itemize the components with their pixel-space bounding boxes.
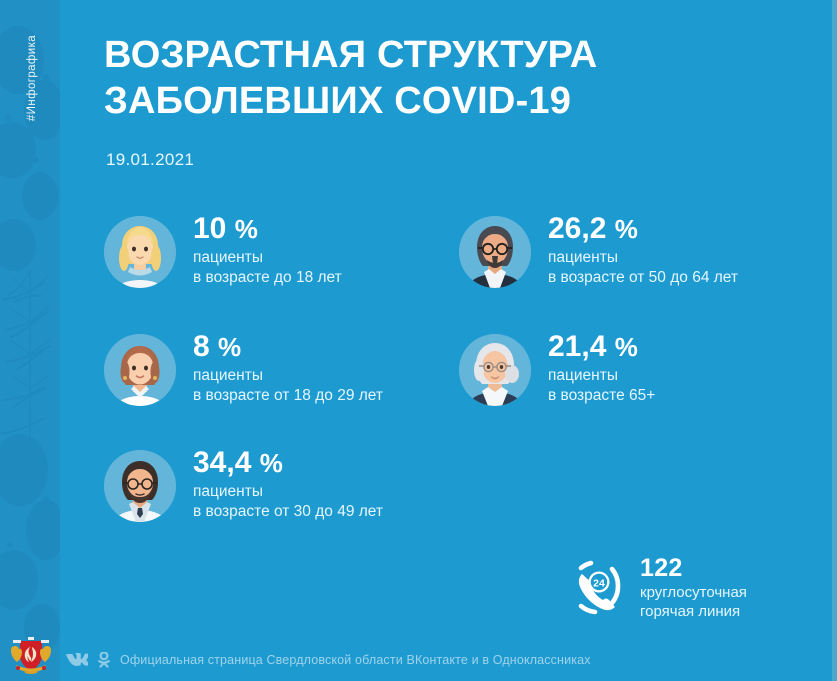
phone-24h-icon: 24: [568, 560, 624, 616]
page-title-line-1: Возрастная структура: [104, 32, 744, 78]
footer-text: Официальная страница Свердловской област…: [120, 653, 591, 667]
stat-item-30-49: 34,4 % пациенты в возрасте от 30 до 49 л…: [104, 446, 454, 522]
page-title-line-2: заболевших COVID-19: [104, 78, 744, 124]
hotline-subtitle-line-1: круглосуточная: [640, 584, 747, 603]
stat-description: пациенты в возрасте от 18 до 29 лет: [193, 366, 383, 405]
stat-item-65-plus: 21,4 % пациенты в возрасте 65+: [459, 330, 809, 406]
man-bearded-glasses-avatar: [104, 450, 176, 522]
hotline-number: 122: [640, 555, 747, 581]
vk-icon[interactable]: [66, 653, 88, 668]
hotline-subtitle: круглосуточная горячая линия: [640, 584, 747, 621]
stat-description-line-2: в возрасте до 18 лет: [193, 268, 342, 288]
stat-description-line-1: пациенты: [548, 366, 655, 386]
stat-description: пациенты в возрасте от 30 до 49 лет: [193, 482, 383, 521]
stat-description-line-1: пациенты: [193, 482, 383, 502]
hotline-subtitle-line-2: горячая линия: [640, 603, 747, 622]
stat-text: 21,4 % пациенты в возрасте 65+: [548, 330, 655, 405]
stat-text: 8 % пациенты в возрасте от 18 до 29 лет: [193, 330, 383, 405]
report-date: 19.01.2021: [106, 150, 194, 170]
stat-number: 34,4: [193, 446, 251, 479]
percent-symbol: %: [260, 448, 283, 478]
social-icons: [66, 652, 111, 668]
stat-item-50-64: 26,2 % пациенты в возрасте от 50 до 64 л…: [459, 212, 809, 288]
stat-description-line-1: пациенты: [548, 248, 738, 268]
stat-description: пациенты в возрасте 65+: [548, 366, 655, 405]
percent-symbol: %: [235, 214, 258, 244]
girl-blonde-avatar-icon: [104, 216, 176, 288]
stat-number: 8: [193, 330, 210, 363]
stat-text: 10 % пациенты в возрасте до 18 лет: [193, 212, 342, 287]
stat-text: 26,2 % пациенты в возрасте от 50 до 64 л…: [548, 212, 738, 287]
side-decorative-panel: #Инфографика: [0, 0, 60, 681]
stat-description-line-2: в возрасте от 30 до 49 лет: [193, 502, 383, 522]
stat-value: 21,4 %: [548, 331, 655, 363]
hotline-text: 122 круглосуточная горячая линия: [640, 555, 747, 621]
man-middleaged-glasses-avatar-icon: [459, 216, 531, 288]
stat-description-line-2: в возрасте 65+: [548, 386, 655, 406]
hashtag-label: #Инфографика: [26, 23, 38, 133]
stat-number: 10: [193, 212, 226, 245]
woman-young-avatar: [104, 334, 176, 406]
sverdlovsk-oblast-coat-of-arms-icon: [10, 637, 52, 675]
man-bearded-glasses-avatar-icon: [104, 450, 176, 522]
hotline-badge-text: 24: [593, 577, 605, 589]
page-title: Возрастная структура заболевших COVID-19: [104, 32, 744, 124]
stat-value: 34,4 %: [193, 447, 383, 479]
woman-elderly-avatar-icon: [459, 334, 531, 406]
stat-description: пациенты в возрасте до 18 лет: [193, 248, 342, 287]
hotline-block: 24 122 круглосуточная горячая линия: [568, 555, 747, 621]
stat-number: 21,4: [548, 330, 606, 363]
man-middleaged-glasses-avatar: [459, 216, 531, 288]
girl-blonde-avatar: [104, 216, 176, 288]
stat-description-line-2: в возрасте от 50 до 64 лет: [548, 268, 738, 288]
percent-symbol: %: [615, 214, 638, 244]
infographic-poster: #Инфографика Возрастная структура заболе…: [0, 0, 837, 681]
right-edge-strip: [832, 0, 837, 681]
stat-description-line-2: в возрасте от 18 до 29 лет: [193, 386, 383, 406]
percent-symbol: %: [218, 332, 241, 362]
ok-icon[interactable]: [97, 652, 111, 668]
woman-young-avatar-icon: [104, 334, 176, 406]
stat-value: 10 %: [193, 213, 342, 245]
stat-number: 26,2: [548, 212, 606, 245]
stat-text: 34,4 % пациенты в возрасте от 30 до 49 л…: [193, 446, 383, 521]
stat-value: 26,2 %: [548, 213, 738, 245]
footer: Официальная страница Свердловской област…: [0, 635, 837, 681]
stat-item-under-18: 10 % пациенты в возрасте до 18 лет: [104, 212, 454, 288]
percent-symbol: %: [615, 332, 638, 362]
stat-description-line-1: пациенты: [193, 248, 342, 268]
stat-item-18-29: 8 % пациенты в возрасте от 18 до 29 лет: [104, 330, 454, 406]
stat-value: 8 %: [193, 331, 383, 363]
woman-elderly-avatar: [459, 334, 531, 406]
stat-description: пациенты в возрасте от 50 до 64 лет: [548, 248, 738, 287]
stat-description-line-1: пациенты: [193, 366, 383, 386]
